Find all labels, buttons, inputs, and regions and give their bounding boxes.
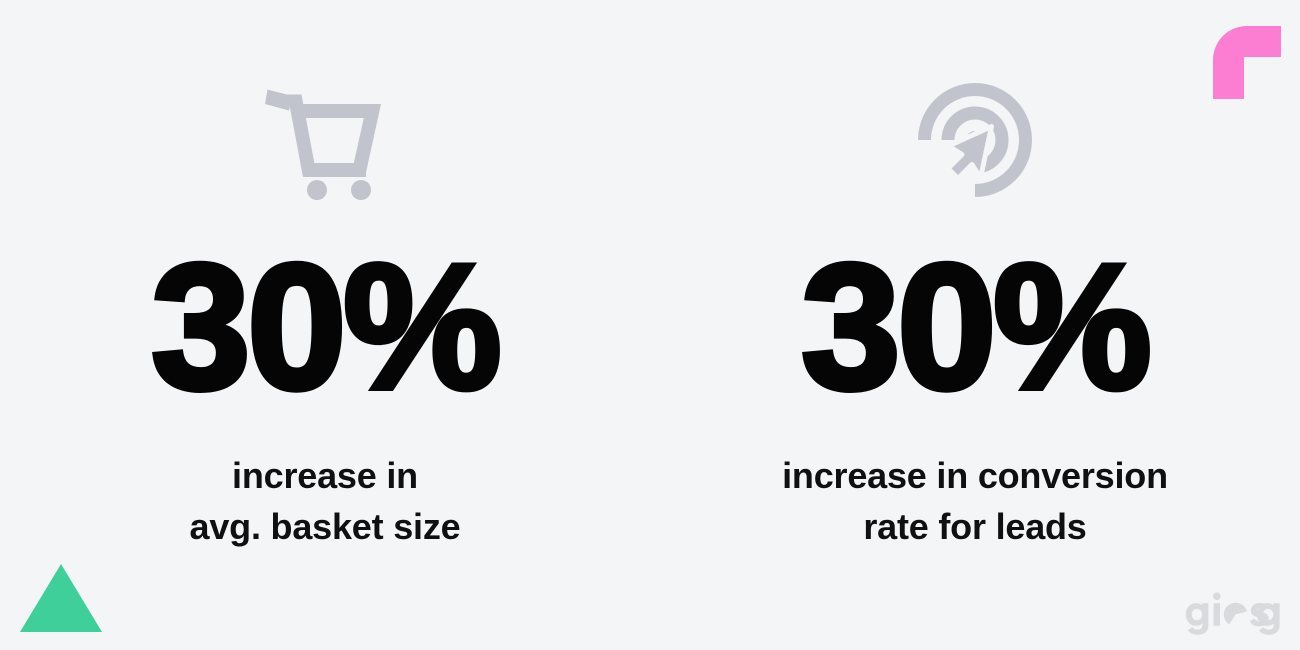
target-cursor-icon bbox=[915, 80, 1035, 200]
stat-block-conversion-rate: 30% increase in conversion rate for lead… bbox=[650, 80, 1300, 560]
stat-caption: increase in avg. basket size bbox=[190, 450, 461, 552]
stats-row: 30% increase in avg. basket size bbox=[0, 80, 1300, 560]
stat-value: 30% bbox=[801, 238, 1148, 416]
stat-value: 30% bbox=[151, 238, 498, 416]
stat-caption: increase in conversion rate for leads bbox=[782, 450, 1168, 552]
cart-wheel-left bbox=[307, 180, 327, 200]
stat-graphic-canvas: 30% increase in avg. basket size bbox=[0, 0, 1300, 650]
target-cursor-glyph bbox=[915, 80, 1035, 200]
giosg-wordmark-glyph bbox=[1185, 589, 1285, 635]
shopping-cart-icon bbox=[265, 80, 385, 200]
giosg-wordmark bbox=[1185, 589, 1285, 635]
green-triangle bbox=[20, 564, 102, 632]
shopping-cart-glyph bbox=[265, 80, 385, 200]
cart-wheel-right bbox=[351, 180, 371, 200]
stat-block-basket-size: 30% increase in avg. basket size bbox=[0, 80, 650, 560]
